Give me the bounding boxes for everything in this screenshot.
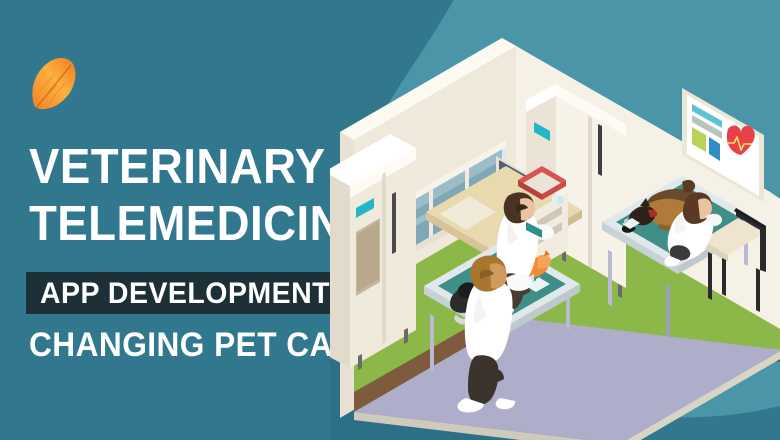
medical-storage-cabinet-left [330,134,416,370]
headline-column: VETERINARY TELEMEDICINE APP DEVELOPMENT … [0,0,380,440]
poster-canvas: VETERINARY TELEMEDICINE APP DEVELOPMENT … [0,0,780,440]
headline-line-3: APP DEVELOPMENT [40,279,330,309]
headline-line-4: CHANGING PET CARE [29,328,378,362]
headline-line-2: TELEMEDICINE [29,200,374,249]
orange-leaf-logo-icon [27,55,79,113]
isometric-veterinary-clinic-illustration [330,0,780,440]
headline-line-1: VETERINARY [29,143,326,192]
